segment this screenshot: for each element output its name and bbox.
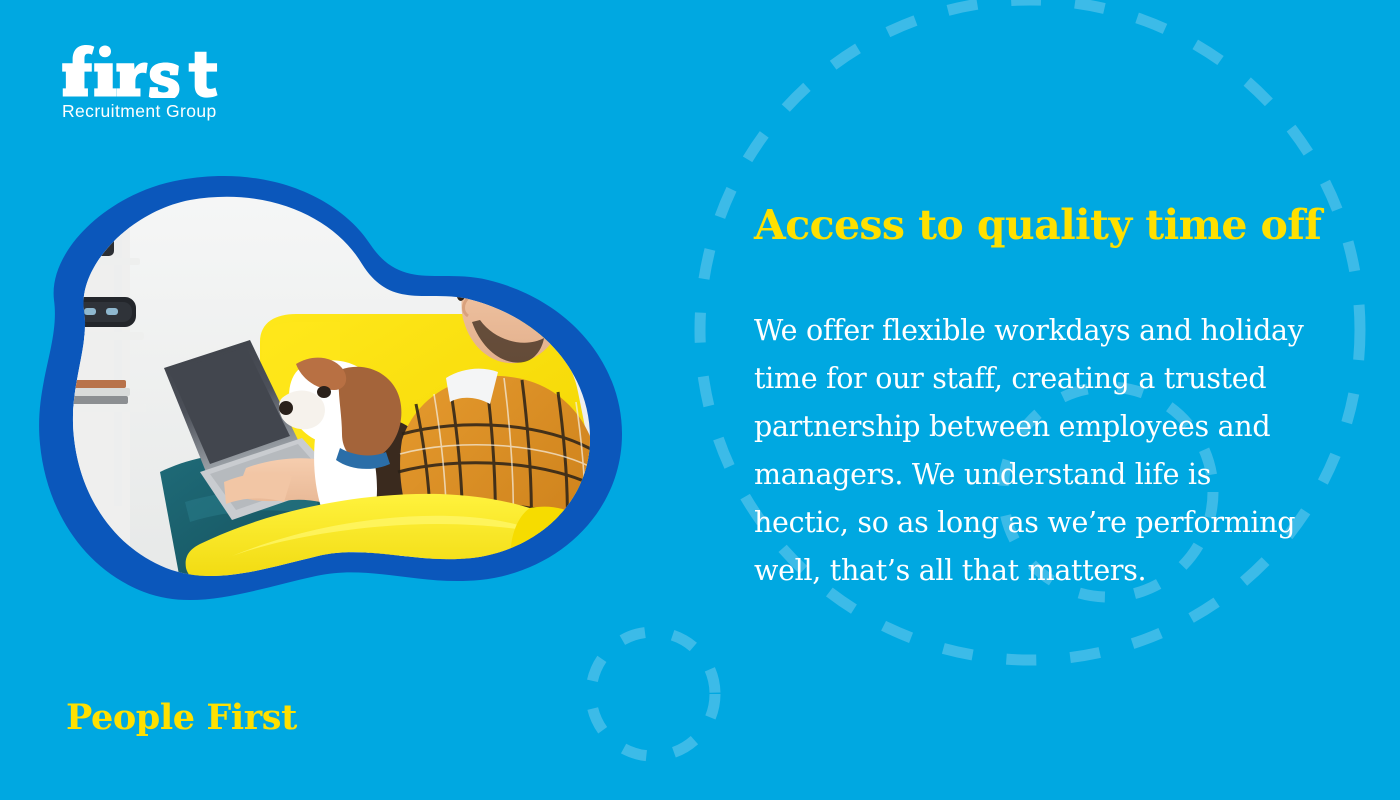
small-dashed-circle-icon	[591, 632, 715, 756]
logo-subtitle: Recruitment Group	[62, 103, 342, 121]
photo-blob	[10, 172, 710, 632]
footer-tagline: People First	[66, 700, 297, 735]
brand-logo[interactable]: Recruitment Group	[62, 44, 342, 121]
headline: Access to quality time off	[754, 203, 1354, 247]
body-paragraph: We offer flexible workdays and holiday t…	[754, 307, 1314, 595]
slide-canvas: Recruitment Group	[0, 0, 1400, 800]
copy-block: Access to quality time off We offer flex…	[754, 203, 1354, 595]
first-wordmark-icon	[62, 44, 224, 98]
